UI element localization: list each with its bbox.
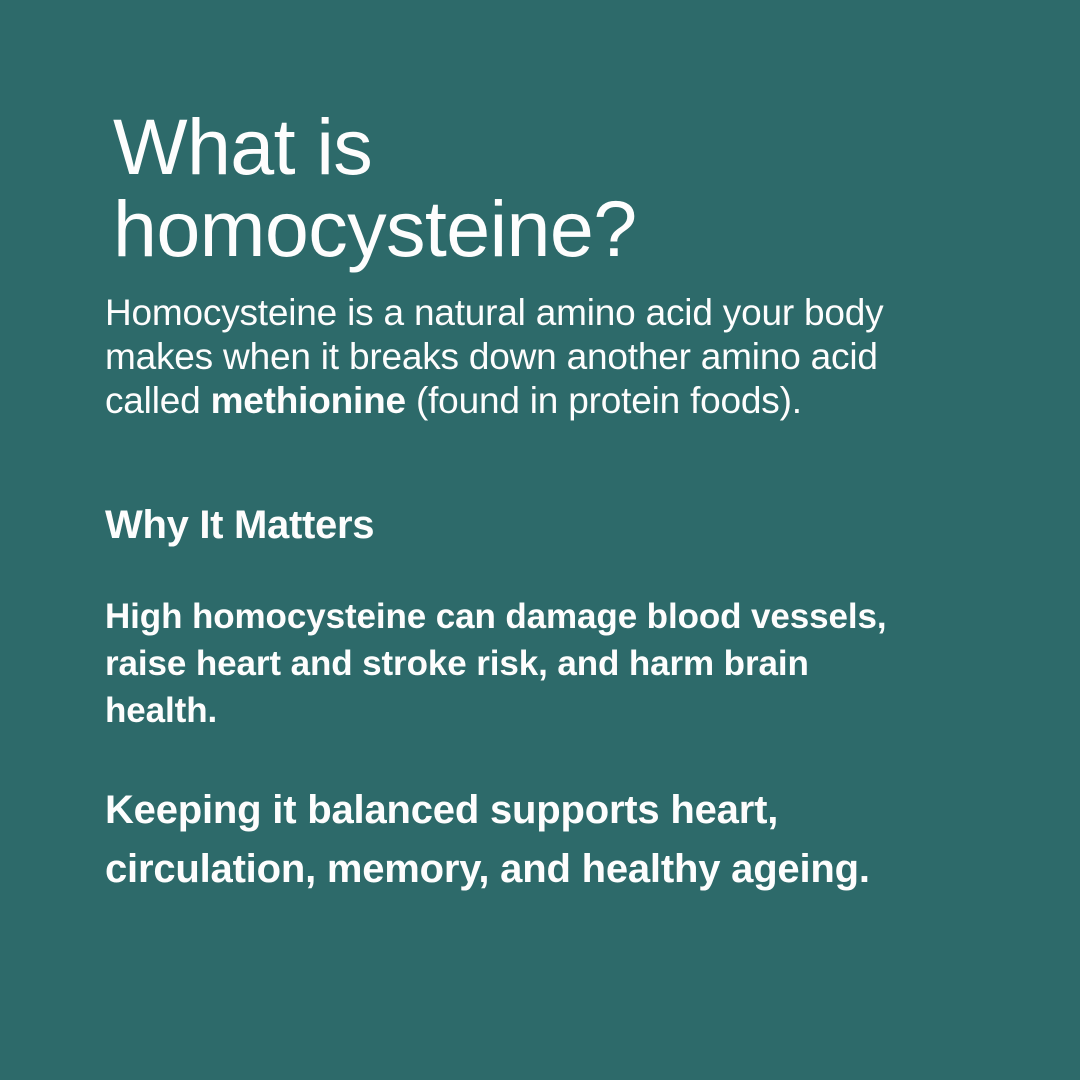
intro-text-after-bold: (found in protein foods). [406, 380, 802, 421]
page-title: What is homocysteine? [105, 106, 905, 270]
risk-paragraph: High homocysteine can damage blood vesse… [105, 549, 905, 734]
intro-paragraph: Homocysteine is a natural amino acid you… [105, 270, 905, 423]
section-heading-why-it-matters: Why It Matters [105, 423, 905, 549]
slide-content: What is homocysteine? Homocysteine is a … [105, 106, 905, 899]
slide-canvas: What is homocysteine? Homocysteine is a … [0, 0, 1080, 1080]
methionine-term: methionine [211, 380, 406, 421]
benefit-paragraph: Keeping it balanced supports heart, circ… [105, 734, 905, 899]
